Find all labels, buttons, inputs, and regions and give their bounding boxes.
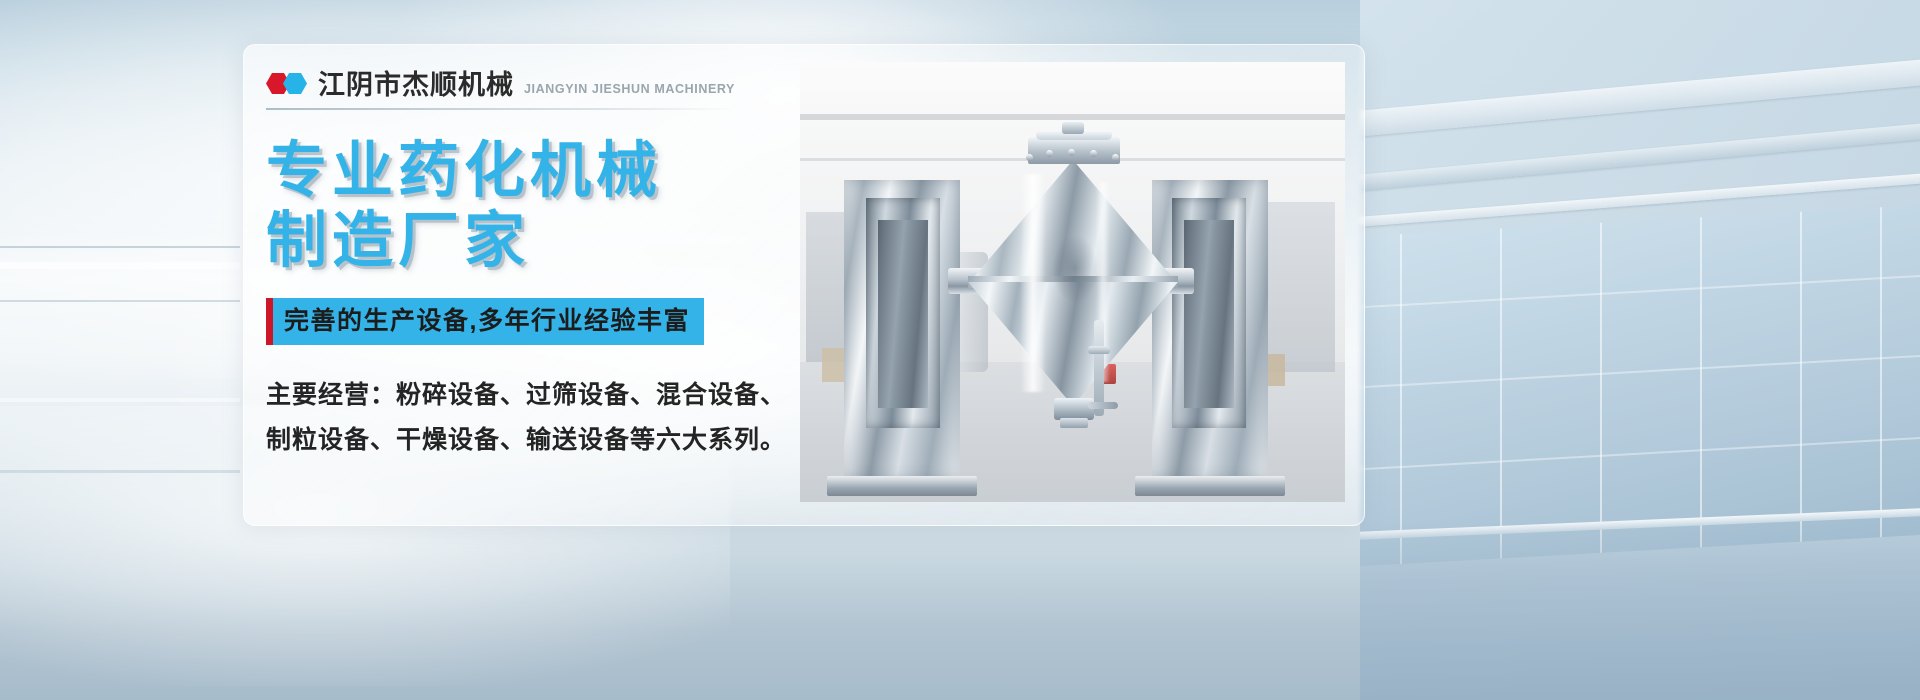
brand-name-cn: 江阴市杰顺机械 bbox=[318, 70, 514, 100]
body-line-2: 制粒设备、干燥设备、输送设备等六大系列。 bbox=[266, 418, 756, 463]
cone-reflection bbox=[1052, 234, 1098, 304]
leg-core-panel bbox=[878, 220, 928, 408]
headline-line-1: 专业药化机械 bbox=[266, 136, 756, 206]
headline: 专业药化机械 制造厂家 bbox=[266, 136, 756, 276]
glass-building bbox=[1360, 0, 1920, 700]
banner-stage: 江阴市杰顺机械 JIANGYIN JIESHUN MACHINERY 专业药化机… bbox=[0, 0, 1920, 700]
highlight-bar: 完善的生产设备,多年行业经验丰富 bbox=[266, 298, 704, 345]
lid-bolt bbox=[1112, 154, 1119, 161]
body-text: 主要经营：粉碎设备、过筛设备、混合设备、 制粒设备、干燥设备、输送设备等六大系列… bbox=[266, 373, 756, 463]
vacuum-port-stub bbox=[1062, 122, 1084, 134]
machine-support-leg-left bbox=[844, 180, 960, 480]
double-cone-vessel bbox=[968, 130, 1178, 430]
window-transom bbox=[1360, 437, 1920, 470]
brand-divider bbox=[266, 108, 734, 110]
machine-base-foot-left bbox=[827, 476, 977, 496]
body-line-1: 主要经营：粉碎设备、过筛设备、混合设备、 bbox=[266, 373, 756, 418]
lid-bolt bbox=[1068, 149, 1075, 156]
horizon-band bbox=[0, 398, 240, 402]
text-column: 江阴市杰顺机械 JIANGYIN JIESHUN MACHINERY 专业药化机… bbox=[266, 62, 756, 522]
hexagon-blue-icon bbox=[283, 73, 307, 94]
window-mullion bbox=[1880, 207, 1882, 537]
horizon-band bbox=[0, 470, 240, 473]
window-transom bbox=[1360, 275, 1920, 308]
highlight-text: 完善的生产设备,多年行业经验丰富 bbox=[284, 307, 690, 335]
hexagon-pair-icon bbox=[266, 71, 308, 95]
lid-bolt bbox=[1090, 150, 1097, 157]
cone-highlight bbox=[1020, 174, 1046, 392]
product-photo bbox=[800, 62, 1345, 502]
window-mullion bbox=[1700, 217, 1702, 547]
brand-name-en: JIANGYIN JIESHUN MACHINERY bbox=[524, 82, 735, 96]
window-mullion bbox=[1500, 228, 1502, 558]
discharge-outlet bbox=[1060, 418, 1088, 428]
machine bbox=[800, 62, 1345, 502]
brand-row: 江阴市杰顺机械 JIANGYIN JIESHUN MACHINERY bbox=[266, 62, 756, 100]
machine-base-foot-right bbox=[1135, 476, 1285, 496]
horizon-band bbox=[0, 246, 240, 248]
discharge-valve-handle bbox=[1088, 402, 1118, 409]
horizon-band bbox=[0, 262, 240, 269]
discharge-valve bbox=[1054, 398, 1094, 420]
lid-bolt bbox=[1046, 150, 1053, 157]
side-pipe-elbow bbox=[1088, 346, 1110, 354]
leg-core-panel bbox=[1184, 220, 1234, 408]
horizon-band bbox=[0, 300, 240, 302]
window-mullion bbox=[1400, 234, 1402, 564]
lid-bolt bbox=[1026, 154, 1033, 161]
building-base-shadow bbox=[1360, 520, 1920, 700]
headline-line-2: 制造厂家 bbox=[266, 206, 756, 276]
window-mullion bbox=[1600, 223, 1602, 553]
window-transom bbox=[1360, 355, 1920, 388]
window-mullion bbox=[1800, 212, 1802, 542]
